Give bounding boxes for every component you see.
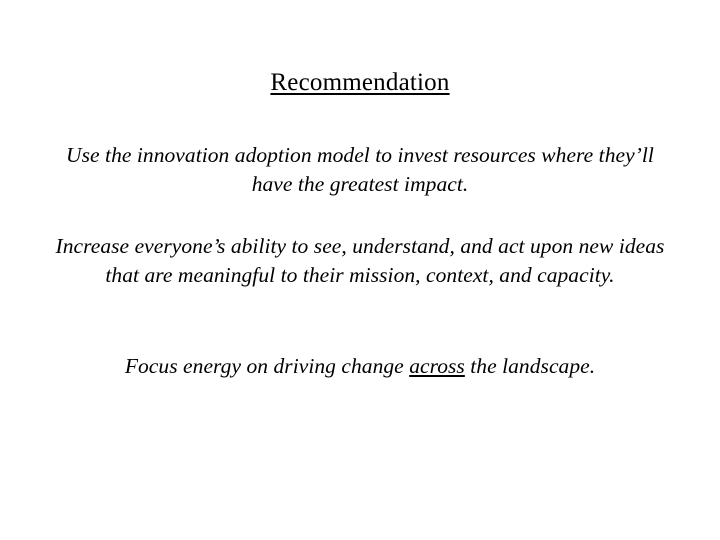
- body-paragraph-1: Use the innovation adoption model to inv…: [50, 141, 670, 199]
- body-paragraph-2: Increase everyone’s ability to see, unde…: [50, 232, 670, 290]
- page-title: Recommendation: [0, 68, 720, 98]
- slide-canvas: Recommendation Use the innovation adopti…: [0, 0, 720, 540]
- page-title-text: Recommendation: [270, 69, 449, 96]
- body-paragraph-3-emphasis: across: [409, 354, 465, 378]
- body-paragraph-3-lead: Focus energy on driving change: [125, 354, 409, 378]
- body-paragraph-2-text: Increase everyone’s ability to see, unde…: [56, 234, 665, 287]
- body-paragraph-3-trail: the landscape.: [465, 354, 595, 378]
- body-paragraph-3: Focus energy on driving change across th…: [50, 352, 670, 381]
- body-paragraph-1-text: Use the innovation adoption model to inv…: [66, 143, 654, 196]
